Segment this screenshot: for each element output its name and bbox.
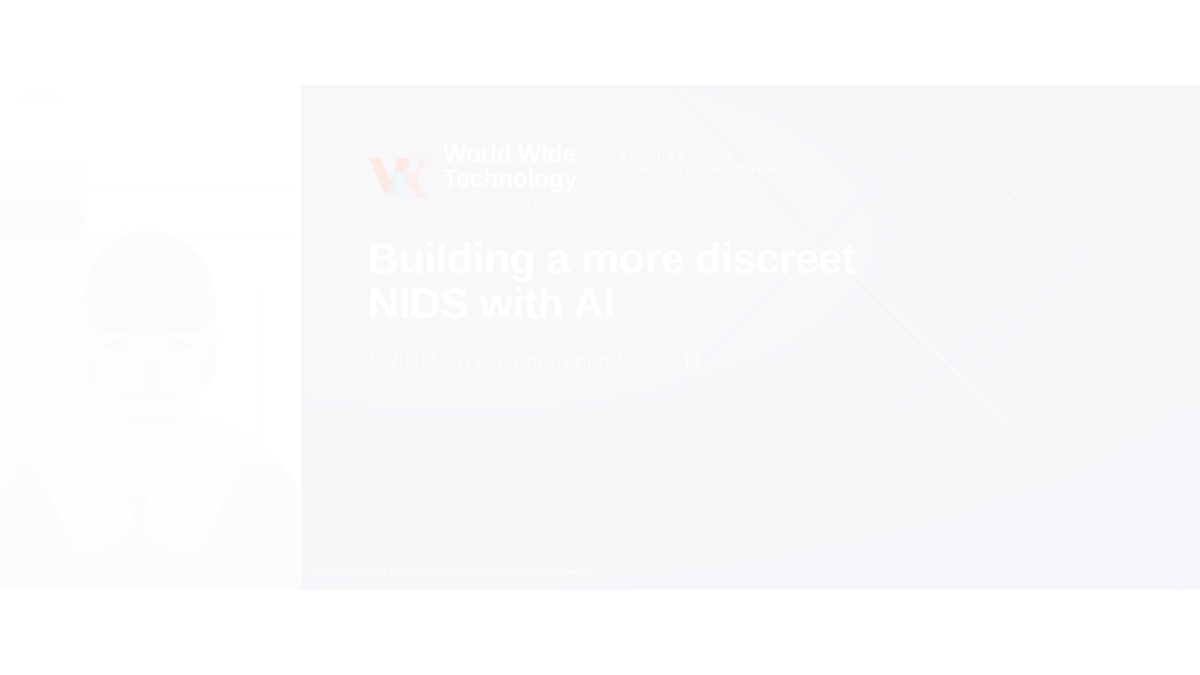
- wordmark-line-2: Technology: [443, 167, 577, 192]
- wwt-wordmark: World Wide Technology: [443, 142, 577, 192]
- presenter-mouth: [130, 415, 172, 423]
- presentation-slide[interactable]: World Wide Technology Make a new world h…: [301, 85, 1200, 590]
- presenter-hair: [84, 231, 214, 335]
- wwt-logo-mark: [368, 154, 428, 200]
- slide-copyright-footer: Copyright © 2021 World Wide Technology, …: [311, 567, 594, 578]
- subbrand-line-1: BUSINESS AND: [620, 150, 790, 163]
- wwt-wordmark-group: World Wide Technology Make a new world h…: [443, 142, 577, 211]
- wwt-subbrand: BUSINESS AND ANALYTICS ADVISORS: [620, 150, 790, 175]
- letterbox-bottom: [0, 590, 1200, 675]
- slide-title: Building a more discreet NIDS with AI: [368, 237, 888, 327]
- letterbox-top: [0, 0, 1200, 85]
- presenter-figure: [0, 85, 301, 590]
- presentation-stage: World Wide Technology Make a new world h…: [0, 0, 1200, 675]
- subbrand-line-2: ANALYTICS ADVISORS: [620, 163, 790, 176]
- presenter-video-feed[interactable]: [0, 85, 301, 590]
- slide-title-block: Building a more discreet NIDS with AI NV…: [368, 237, 888, 375]
- logo-divider: [600, 146, 601, 186]
- wordmark-line-1: World Wide: [443, 142, 577, 167]
- presenter-eye-right: [166, 341, 192, 351]
- presenter-eye-left: [104, 341, 130, 351]
- wwt-logo-lockup: World Wide Technology Make a new world h…: [368, 142, 790, 211]
- slide-subtitle: NVIDIA GTC Conference Nov 8-11: [368, 349, 888, 375]
- wwt-tagline: Make a new world happen: [443, 199, 577, 211]
- content-band: World Wide Technology Make a new world h…: [0, 85, 1200, 590]
- presenter-nose: [140, 357, 158, 397]
